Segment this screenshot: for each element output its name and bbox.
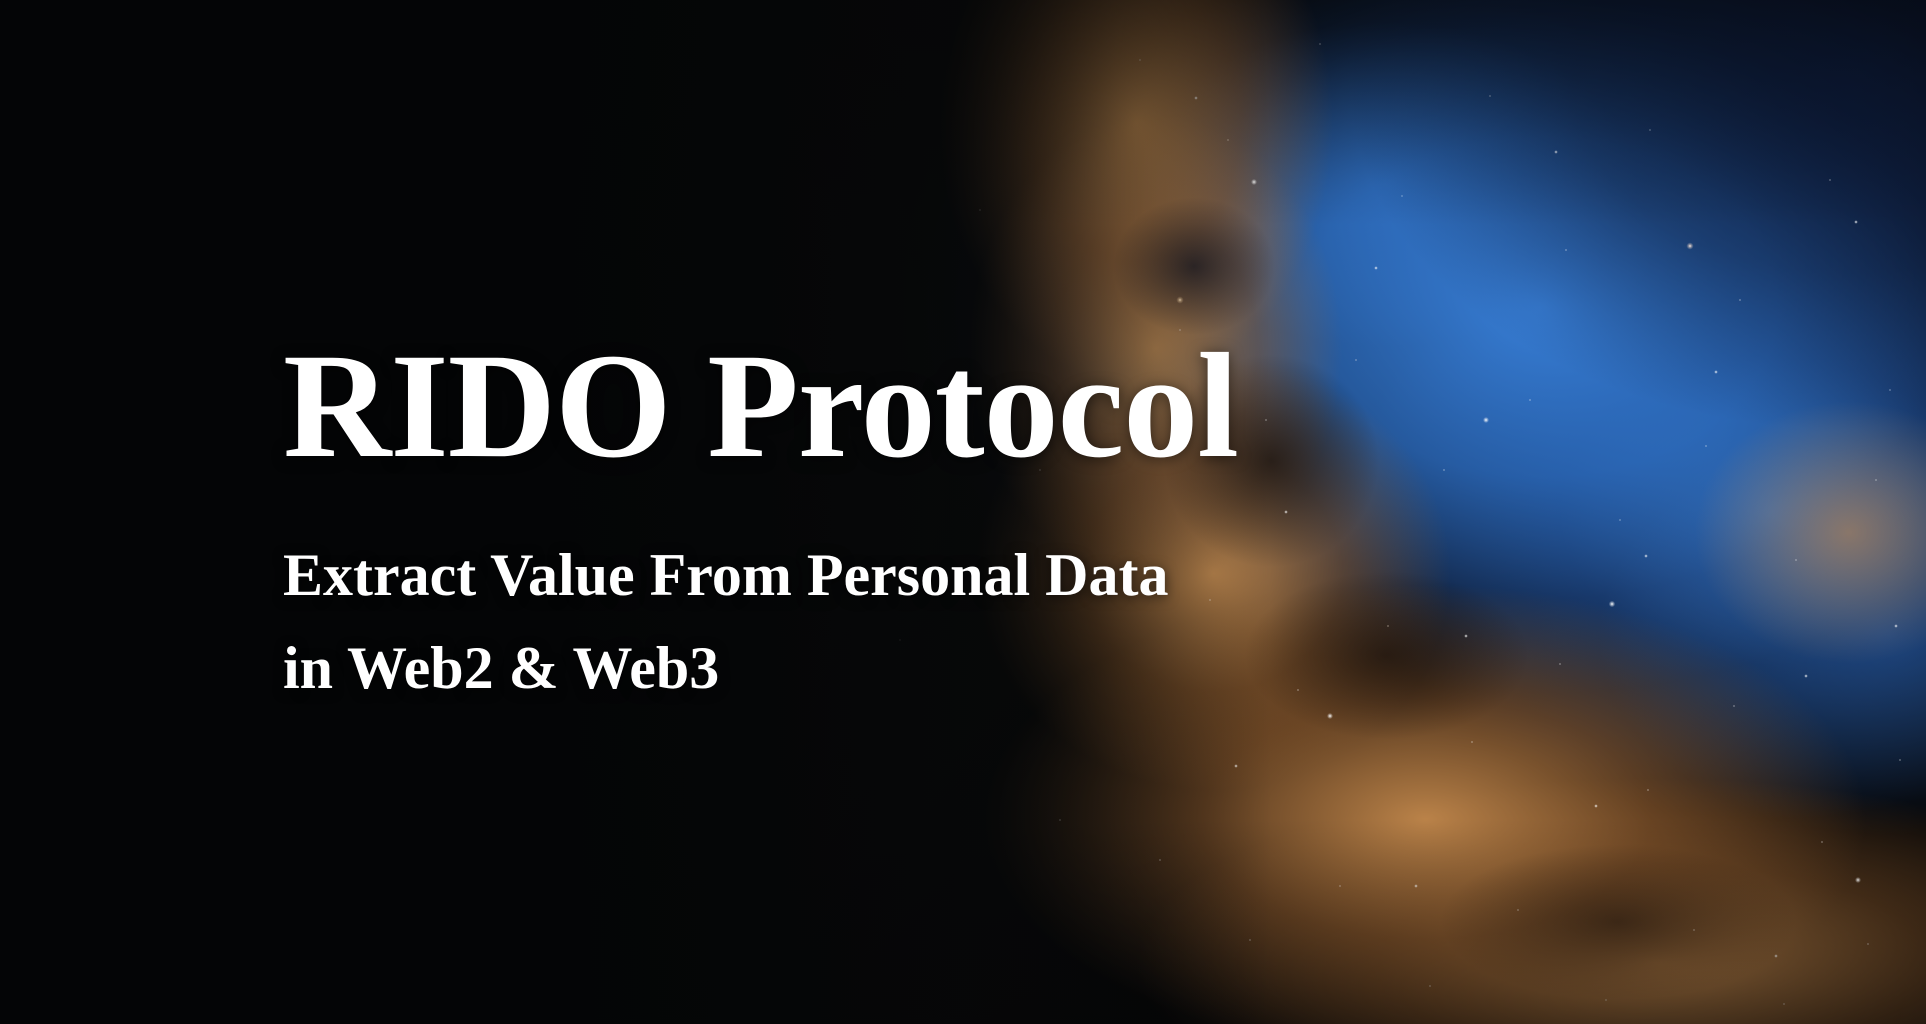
title-block: RIDO Protocol Extract Value From Persona… bbox=[283, 330, 1238, 715]
page-subtitle: Extract Value From Personal Data in Web2… bbox=[283, 529, 1238, 715]
subtitle-line-1: Extract Value From Personal Data bbox=[283, 529, 1238, 622]
subtitle-line-2: in Web2 & Web3 bbox=[283, 622, 1238, 715]
page-title: RIDO Protocol bbox=[283, 330, 1238, 483]
title-slide: RIDO Protocol Extract Value From Persona… bbox=[0, 0, 1926, 1024]
